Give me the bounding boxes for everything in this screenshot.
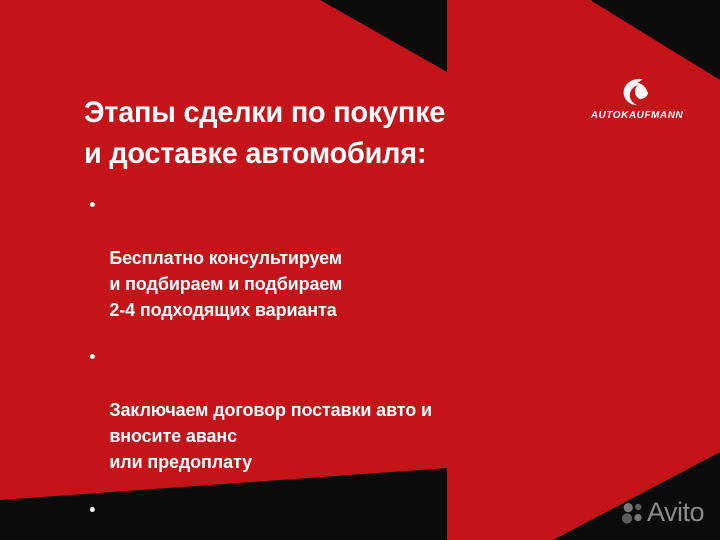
list-item-label: Заключаем договор поставки авто и вносит… [109, 399, 432, 473]
page-title: Этапы сделки по покупке и доставке автом… [84, 92, 583, 175]
avito-watermark-label: Avito [647, 499, 704, 526]
poster-content: Этапы сделки по покупке и доставке автом… [0, 0, 720, 540]
list-item-label: Бесплатно консультируем и подбираем и по… [109, 247, 342, 321]
list-item: Бесплатно консультируем и подбираем и по… [88, 192, 592, 323]
avito-dots-icon [621, 502, 643, 524]
brand-name-label: AUTOKAUFMANN [581, 110, 693, 121]
list-item: Выкуп автомобиля, его доставка и таможен… [88, 497, 592, 540]
list-item: Заключаем договор поставки авто и вносит… [88, 344, 592, 475]
bullet-dot-icon [90, 507, 95, 512]
promo-poster: Этапы сделки по покупке и доставке автом… [0, 0, 720, 540]
bullet-dot-icon [90, 202, 95, 207]
bullet-dot-icon [90, 354, 95, 359]
avito-watermark: Avito [621, 499, 704, 526]
brand-logo: AUTOKAUFMANN [581, 78, 693, 121]
steps-list: Бесплатно консультируем и подбираем и по… [88, 192, 608, 540]
flame-swoosh-icon [620, 78, 654, 108]
